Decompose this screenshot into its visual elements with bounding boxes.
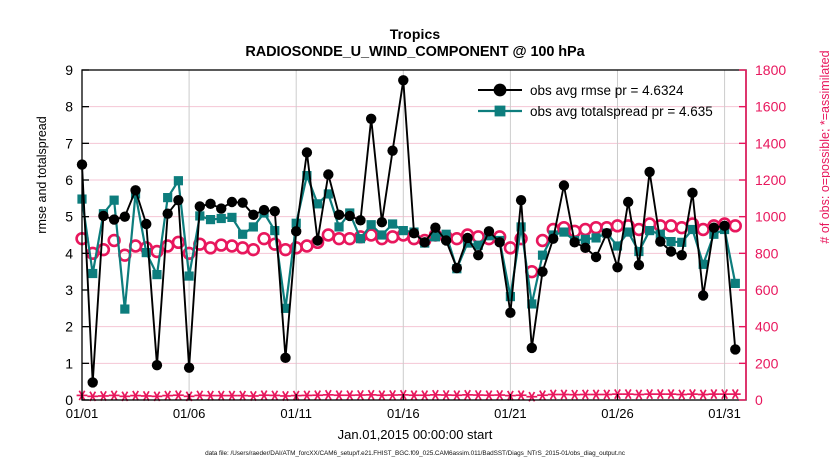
svg-text:8: 8 (65, 99, 73, 115)
y-axis-label-right: # of obs: o=possible; *=assimilated (818, 22, 830, 272)
chart-legend[interactable]: obs avg rmse pr = 4.6324obs avg totalspr… (478, 83, 713, 119)
svg-text:1: 1 (65, 355, 73, 371)
y-axis-label-left: rmse and totalspread (35, 85, 49, 265)
svg-text:7: 7 (65, 135, 73, 151)
svg-text:1400: 1400 (755, 135, 786, 151)
svg-text:01/26: 01/26 (601, 406, 634, 421)
svg-text:0: 0 (755, 392, 763, 408)
svg-text:4: 4 (65, 245, 73, 261)
legend-label: obs avg totalspread pr = 4.635 (530, 104, 713, 119)
svg-text:01/06: 01/06 (173, 406, 206, 421)
svg-text:01/11: 01/11 (280, 406, 312, 421)
svg-text:01/21: 01/21 (494, 406, 527, 421)
svg-text:800: 800 (755, 245, 779, 261)
svg-text:01/31: 01/31 (708, 406, 741, 421)
chart-canvas: 0123456789020040060080010001200140016001… (0, 0, 830, 470)
svg-text:6: 6 (65, 172, 73, 188)
data-series (77, 75, 741, 401)
svg-text:1800: 1800 (755, 62, 786, 78)
legend-label: obs avg rmse pr = 4.6324 (530, 83, 684, 98)
svg-text:1200: 1200 (755, 172, 786, 188)
svg-text:01/01: 01/01 (66, 406, 99, 421)
svg-text:9: 9 (65, 62, 73, 78)
svg-text:1000: 1000 (755, 209, 786, 225)
svg-text:5: 5 (65, 209, 73, 225)
svg-text:600: 600 (755, 282, 779, 298)
svg-text:1600: 1600 (755, 99, 786, 115)
data-file-path: data file: /Users/raeder/DAI/ATM_forcXX/… (0, 450, 830, 457)
svg-text:01/16: 01/16 (387, 406, 420, 421)
svg-text:200: 200 (755, 355, 779, 371)
chart-page: Tropics RADIOSONDE_U_WIND_COMPONENT @ 10… (0, 0, 830, 470)
svg-text:400: 400 (755, 319, 779, 335)
svg-text:2: 2 (65, 319, 73, 335)
svg-text:3: 3 (65, 282, 73, 298)
x-axis-label: Jan.01,2015 00:00:00 start (0, 427, 830, 442)
